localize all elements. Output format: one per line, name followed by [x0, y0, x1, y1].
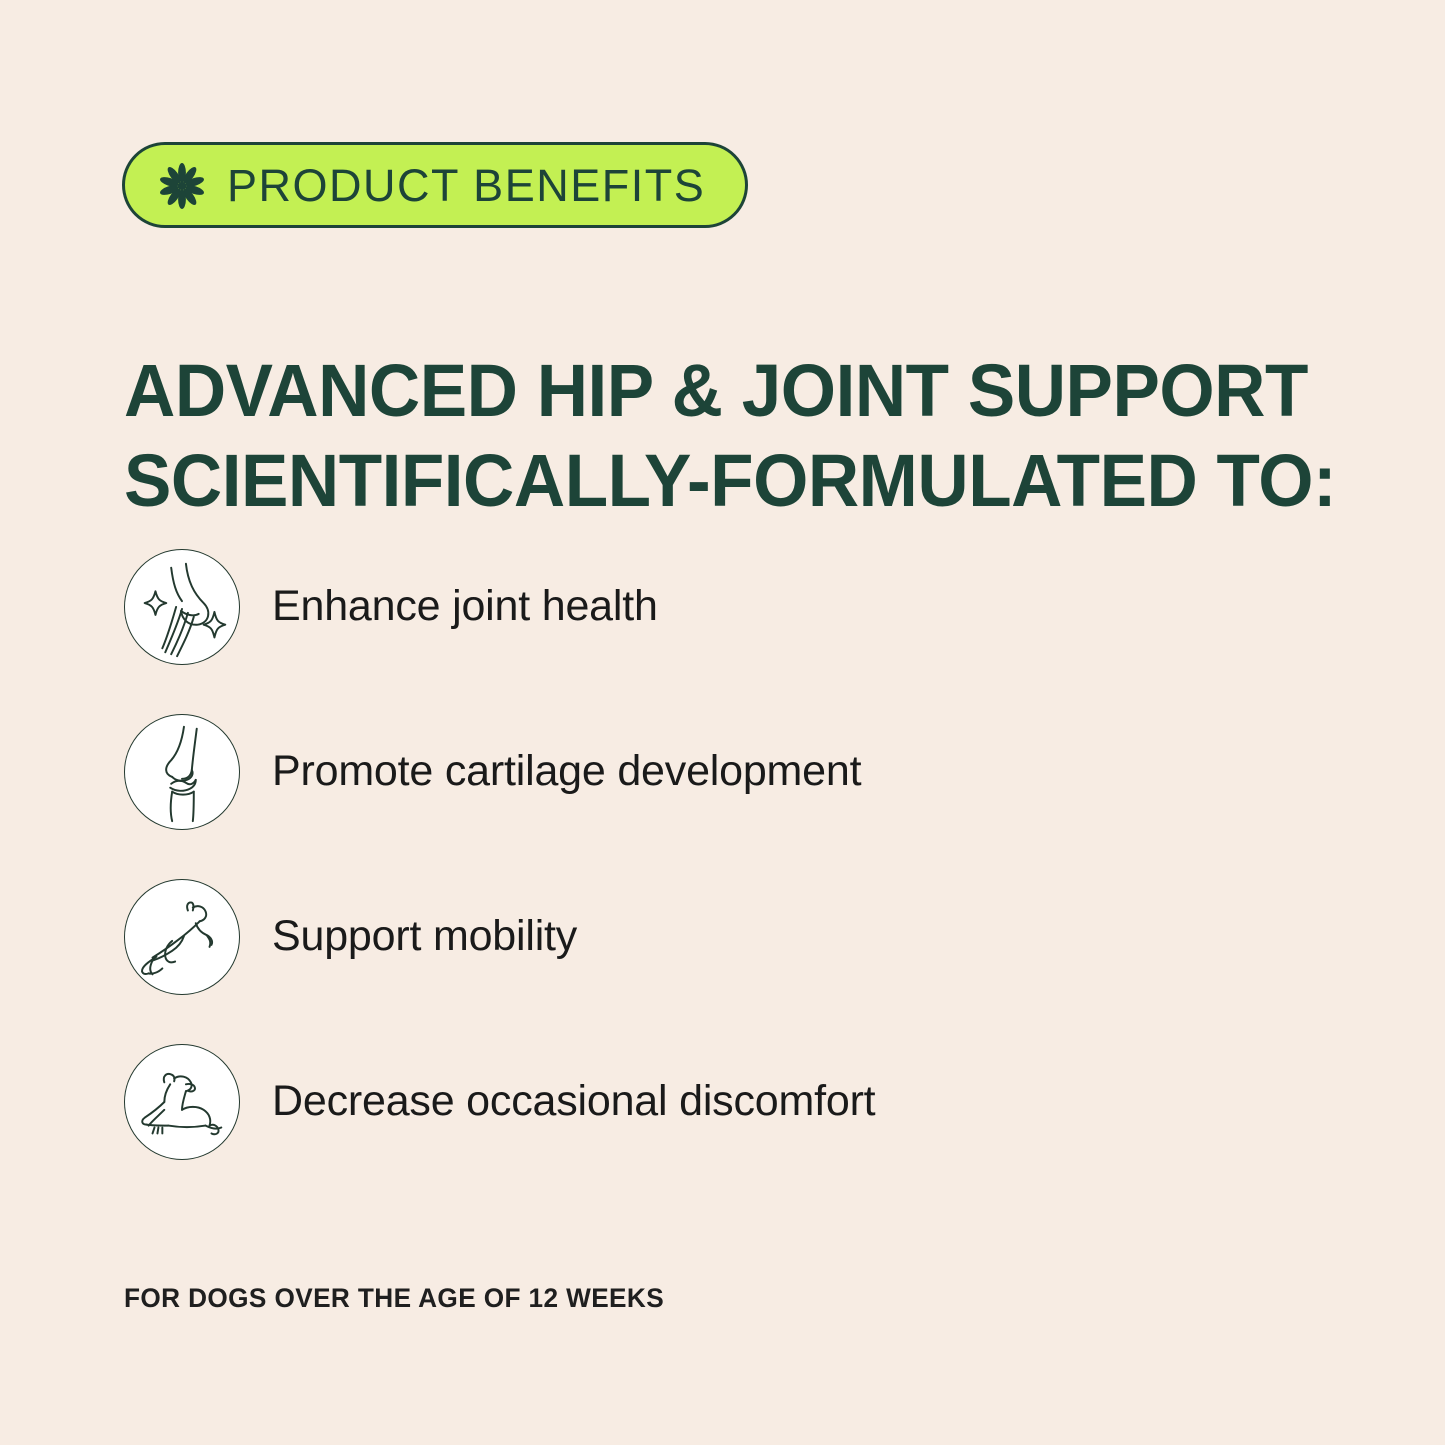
leaping-dog-icon — [124, 879, 240, 995]
page-title: ADVANCED HIP & JOINT SUPPORT SCIENTIFICA… — [124, 346, 1324, 526]
benefits-list: Enhance joint health — [124, 549, 1324, 1209]
resting-dog-icon — [124, 1044, 240, 1160]
benefit-label: Enhance joint health — [272, 583, 658, 630]
headline-line-2: SCIENTIFICALLY-FORMULATED TO: — [124, 436, 1324, 526]
joint-sparkle-icon — [124, 549, 240, 665]
badge-label: PRODUCT BENEFITS — [227, 163, 705, 208]
list-item: Enhance joint health — [124, 549, 1324, 665]
asterisk-icon — [159, 163, 205, 209]
footer-note: FOR DOGS OVER THE AGE OF 12 WEEKS — [124, 1283, 664, 1314]
knee-cartilage-icon — [124, 714, 240, 830]
product-benefits-badge: PRODUCT BENEFITS — [122, 142, 748, 228]
list-item: Promote cartilage development — [124, 714, 1324, 830]
benefit-label: Promote cartilage development — [272, 748, 861, 795]
list-item: Decrease occasional discomfort — [124, 1044, 1324, 1160]
list-item: Support mobility — [124, 879, 1324, 995]
benefit-label: Decrease occasional discomfort — [272, 1078, 875, 1125]
headline-line-1: ADVANCED HIP & JOINT SUPPORT — [124, 346, 1324, 436]
benefit-label: Support mobility — [272, 913, 577, 960]
